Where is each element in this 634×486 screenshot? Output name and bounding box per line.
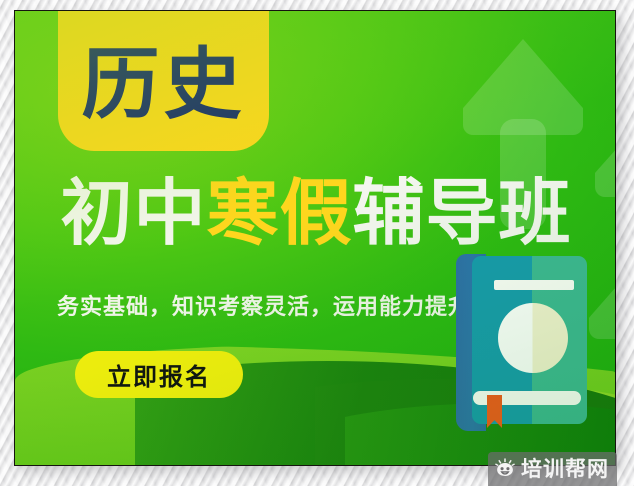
headline-part-season: 寒假 — [206, 171, 352, 255]
book-circle-emblem — [498, 303, 568, 373]
headline-part-course: 辅导班 — [353, 171, 572, 255]
up-arrow-head — [589, 263, 616, 339]
watermark-label: 培训帮网 — [521, 459, 609, 480]
subject-badge-label: 历史 — [81, 46, 245, 124]
watermark: 培训帮网 — [488, 452, 617, 486]
headline-part-grade: 初中 — [60, 171, 206, 255]
page-canvas: 历史 初中寒假辅导班 务实基础，知识考察灵活，运用能力提升 立即报名 — [0, 0, 634, 486]
book-icon — [456, 254, 587, 431]
enroll-now-button-label: 立即报名 — [107, 357, 211, 392]
enroll-now-button[interactable]: 立即报名 — [75, 351, 243, 398]
page-title: 初中寒假辅导班 — [21, 177, 611, 249]
subject-badge: 历史 — [58, 10, 269, 151]
book-top-bar — [494, 280, 574, 290]
promo-banner[interactable]: 历史 初中寒假辅导班 务实基础，知识考察灵活，运用能力提升 立即报名 — [14, 10, 616, 466]
subtitle-text: 务实基础，知识考察灵活，运用能力提升 — [29, 289, 499, 321]
sun-face-icon — [494, 458, 516, 480]
